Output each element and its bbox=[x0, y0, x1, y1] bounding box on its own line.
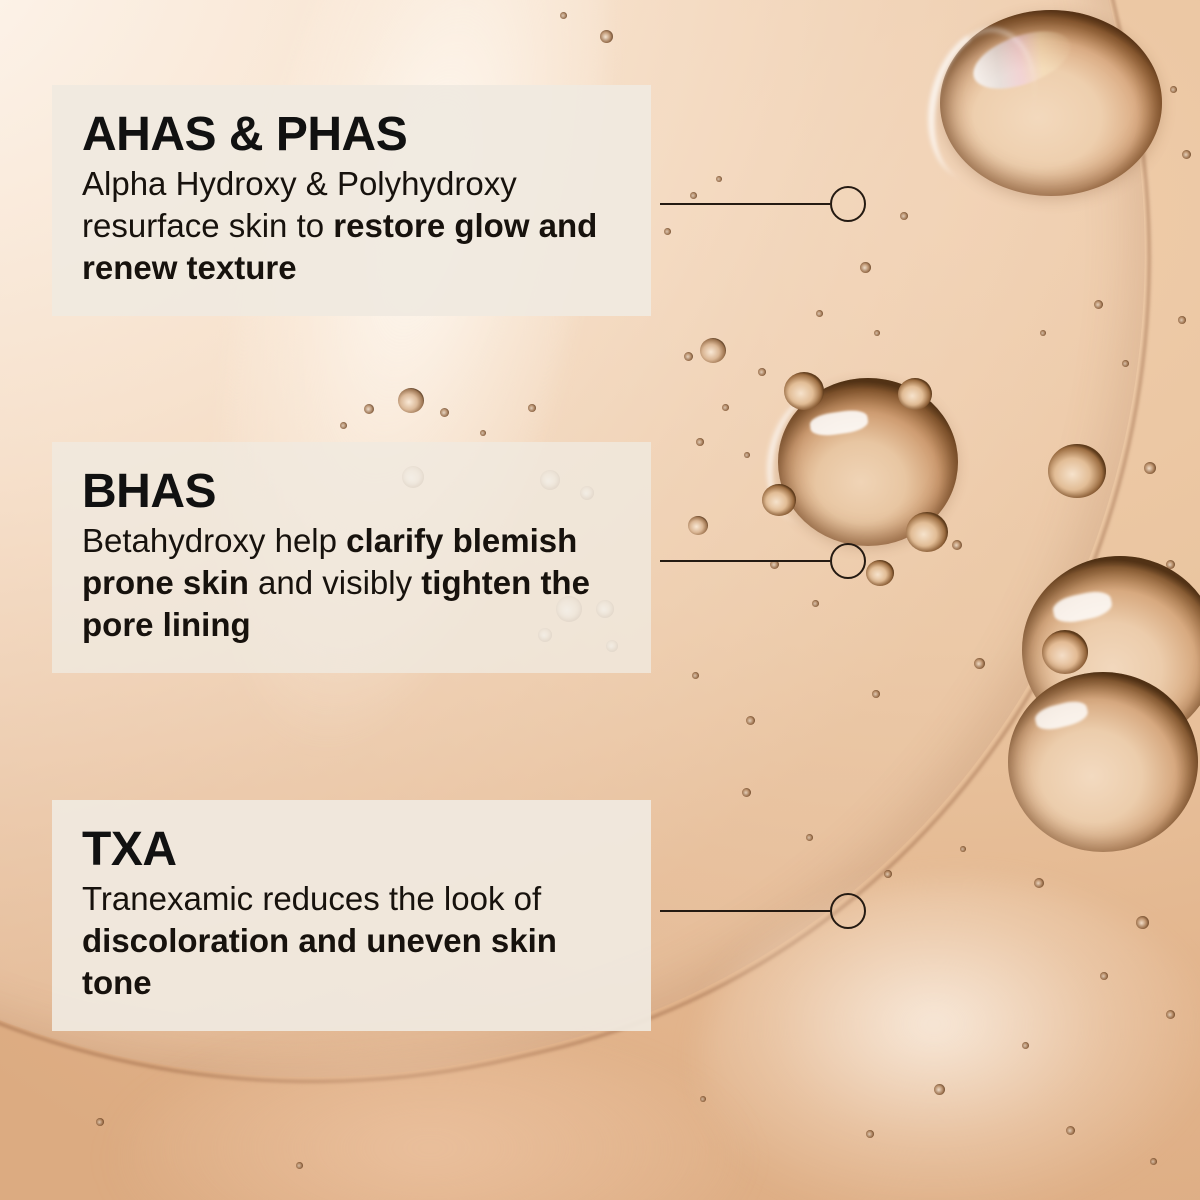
bubble-scatter-44 bbox=[960, 846, 966, 852]
bubble-cluster-mid-d bbox=[762, 484, 796, 516]
bubble-scatter-21 bbox=[860, 262, 871, 273]
connector-line-bhas bbox=[660, 560, 830, 562]
ingredient-card-title: BHAS bbox=[82, 466, 621, 518]
bubble-scatter-29 bbox=[398, 388, 424, 413]
bubble-scatter-49 bbox=[1022, 1042, 1029, 1049]
connector-dot-ahas-phas bbox=[830, 186, 866, 222]
bubble-scatter-15 bbox=[1144, 462, 1156, 474]
bubble-scatter-9 bbox=[812, 600, 819, 607]
droplet-large-lower-right-lower bbox=[1008, 672, 1198, 852]
bubble-scatter-50 bbox=[934, 1084, 945, 1095]
bubble-scatter-48 bbox=[1166, 1010, 1175, 1019]
bubble-scatter-23 bbox=[690, 192, 697, 199]
bubble-scatter-20 bbox=[1040, 330, 1046, 336]
bubble-scatter-55 bbox=[296, 1162, 303, 1169]
ingredient-card-title: TXA bbox=[82, 824, 621, 876]
bubble-scatter-22 bbox=[900, 212, 908, 220]
bubble-cluster-mid-a bbox=[784, 372, 824, 410]
bubble-scatter-51 bbox=[866, 1130, 874, 1138]
bubble-scatter-25 bbox=[664, 228, 671, 235]
ingredient-card-body: Alpha Hydroxy & Polyhydroxy resurface sk… bbox=[82, 163, 621, 290]
bubble-scatter-53 bbox=[1150, 1158, 1157, 1165]
bubble-scatter-27 bbox=[560, 12, 567, 19]
bubble-scatter-18 bbox=[1122, 360, 1129, 367]
bubble-scatter-3 bbox=[758, 368, 766, 376]
bubble-scatter-45 bbox=[1034, 878, 1044, 888]
bubble-cluster-mid-f bbox=[866, 560, 894, 586]
bubble-scatter-30 bbox=[440, 408, 449, 417]
bubble-scatter-4 bbox=[722, 404, 729, 411]
bubble-scatter-6 bbox=[744, 452, 750, 458]
ingredient-card-title: AHAS & PHAS bbox=[82, 109, 621, 161]
bubble-scatter-42 bbox=[806, 834, 813, 841]
bubble-scatter-58 bbox=[1170, 86, 1177, 93]
bubble-scatter-1 bbox=[700, 338, 726, 363]
bubble-scatter-43 bbox=[884, 870, 892, 878]
bubble-scatter-5 bbox=[696, 438, 704, 446]
bubble-cluster-mid-b bbox=[898, 378, 932, 410]
bubble-scatter-11 bbox=[974, 658, 985, 669]
bubble-scatter-13 bbox=[746, 716, 755, 725]
bubble-scatter-10 bbox=[952, 540, 962, 550]
bubble-scatter-24 bbox=[716, 176, 722, 182]
bubble-scatter-31 bbox=[528, 404, 536, 412]
skincare-ingredient-infographic: AHAS & PHAS Alpha Hydroxy & Polyhydroxy … bbox=[0, 0, 1200, 1200]
bubble-scatter-57 bbox=[1182, 150, 1191, 159]
droplet-small-between-lower-right bbox=[1042, 630, 1088, 674]
bubble-scatter-52 bbox=[1066, 1126, 1075, 1135]
connector-line-ahas-phas bbox=[660, 203, 830, 205]
ingredient-card-bhas: BHAS Betahydroxy help clarify blemish pr… bbox=[52, 442, 651, 673]
connector-line-txa bbox=[660, 910, 830, 912]
connector-dot-bhas bbox=[830, 543, 866, 579]
bubble-scatter-2 bbox=[684, 352, 693, 361]
bubble-scatter-12 bbox=[872, 690, 880, 698]
bubble-scatter-47 bbox=[1100, 972, 1108, 980]
ingredient-card-body: Tranexamic reduces the look of discolora… bbox=[82, 878, 621, 1005]
bubble-scatter-28 bbox=[364, 404, 374, 414]
bubble-scatter-41 bbox=[742, 788, 751, 797]
bubble-scatter-59 bbox=[874, 330, 880, 336]
bubble-scatter-60 bbox=[816, 310, 823, 317]
bubble-scatter-33 bbox=[340, 422, 347, 429]
ingredient-card-txa: TXA Tranexamic reduces the look of disco… bbox=[52, 800, 651, 1031]
bubble-scatter-19 bbox=[1094, 300, 1103, 309]
connector-dot-txa bbox=[830, 893, 866, 929]
bubble-scatter-7 bbox=[688, 516, 708, 535]
bubble-scatter-17 bbox=[1178, 316, 1186, 324]
bubble-scatter-16 bbox=[1166, 560, 1175, 569]
bubble-scatter-56 bbox=[96, 1118, 104, 1126]
bubble-scatter-46 bbox=[1136, 916, 1149, 929]
ingredient-card-ahas-phas: AHAS & PHAS Alpha Hydroxy & Polyhydroxy … bbox=[52, 85, 651, 316]
bubble-cluster-mid-c bbox=[906, 512, 948, 552]
bubble-scatter-32 bbox=[480, 430, 486, 436]
bubble-scatter-54 bbox=[700, 1096, 706, 1102]
ingredient-card-body: Betahydroxy help clarify blemish prone s… bbox=[82, 520, 621, 647]
bubble-cluster-mid-e bbox=[1048, 444, 1106, 498]
bubble-scatter-26 bbox=[600, 30, 613, 43]
bubble-scatter-14 bbox=[692, 672, 699, 679]
